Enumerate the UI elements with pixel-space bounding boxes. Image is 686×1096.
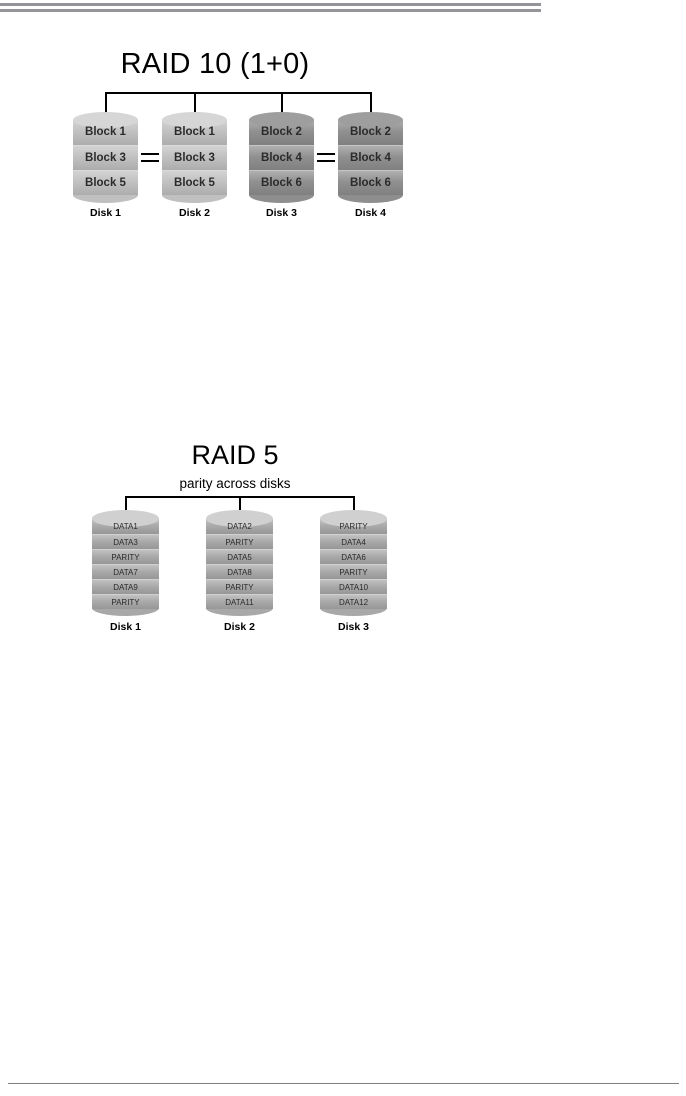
disk-name-label: Disk 1 [73,207,138,219]
disk-name-label: Disk 4 [338,207,403,219]
disk-block-band: PARITY [206,579,273,594]
connector-horizontal-bar [106,92,371,94]
footer-rule [8,1083,679,1084]
disk-block-label: DATA3 [113,538,138,547]
disk-block-label: Block 2 [350,126,391,138]
disk-block-label: Block 1 [174,126,215,138]
disk-block-label: Block 5 [174,177,215,189]
disk-block-label: DATA9 [113,583,138,592]
disk-block-band: DATA10 [320,579,387,594]
disk-block-label: Block 6 [261,177,302,189]
disk-block-band: DATA4 [320,534,387,549]
disk-block-band: PARITY [92,549,159,564]
disk-block-label: DATA2 [227,522,252,531]
disk-block-label: Block 3 [85,152,126,164]
disk-block-band: Block 3 [73,145,138,170]
disk-block-band: PARITY [206,534,273,549]
disk-block-label: Block 6 [350,177,391,189]
disk-block-label: Block 3 [174,152,215,164]
disk-block-label: PARITY [225,538,253,547]
disk-block-band: Block 6 [249,170,314,195]
disk-body: Block 2Block 4Block 6 [338,120,403,195]
disk-block-band: Block 4 [338,145,403,170]
raid5-subtitle: parity across disks [0,476,470,491]
disk-body: DATA2PARITYDATA5DATA8PARITYDATA11 [206,519,273,609]
raid10-title: RAID 10 (1+0) [0,48,430,81]
disk-block-band: DATA12 [320,594,387,609]
disk-block-label: DATA8 [227,568,252,577]
disk-body: DATA1DATA3PARITYDATA7DATA9PARITY [92,519,159,609]
header-rule-lower [0,9,541,12]
disk-block-label: PARITY [339,522,367,531]
disk-block-label: PARITY [111,598,139,607]
disk-block-band: DATA11 [206,594,273,609]
disk-block-band: PARITY [320,564,387,579]
disk-block-band: Block 3 [162,145,227,170]
disk-body: Block 1Block 3Block 5 [162,120,227,195]
disk-block-label: DATA5 [227,553,252,562]
disk-block-label: DATA1 [113,522,138,531]
disk-block-label: Block 4 [261,152,302,164]
mirror-connector [141,153,159,162]
disk-name-label: Disk 3 [249,207,314,219]
disk-block-label: DATA10 [339,583,368,592]
disk-block-label: Block 4 [350,152,391,164]
disk-block-label: PARITY [339,568,367,577]
disk-name-label: Disk 2 [162,207,227,219]
disk-block-band: DATA9 [92,579,159,594]
disk-block-band: DATA6 [320,549,387,564]
disk-block-label: PARITY [111,553,139,562]
disk-name-label: Disk 3 [320,621,387,633]
disk-block-label: DATA4 [341,538,366,547]
disk-block-band: Block 4 [249,145,314,170]
disk-block-band: Block 6 [338,170,403,195]
disk-body: Block 2Block 4Block 6 [249,120,314,195]
disk-block-label: DATA7 [113,568,138,577]
disk-name-label: Disk 2 [206,621,273,633]
disk-block-band: Block 5 [73,170,138,195]
disk-block-band: PARITY [92,594,159,609]
disk-block-band: DATA5 [206,549,273,564]
disk-block-label: Block 2 [261,126,302,138]
disk-block-label: DATA12 [339,598,368,607]
header-rule-upper [0,3,541,6]
disk-block-label: DATA11 [225,598,253,607]
raid5-title: RAID 5 [0,440,470,471]
disk-block-band: DATA8 [206,564,273,579]
disk-name-label: Disk 1 [92,621,159,633]
disk-block-band: DATA3 [92,534,159,549]
disk-block-band: DATA7 [92,564,159,579]
disk-body: PARITYDATA4DATA6PARITYDATA10DATA12 [320,519,387,609]
disk-block-label: Block 1 [85,126,126,138]
disk-block-band: Block 5 [162,170,227,195]
disk-block-label: PARITY [225,583,253,592]
mirror-connector [317,153,335,162]
disk-block-label: DATA6 [341,553,366,562]
disk-block-label: Block 5 [85,177,126,189]
disk-body: Block 1Block 3Block 5 [73,120,138,195]
